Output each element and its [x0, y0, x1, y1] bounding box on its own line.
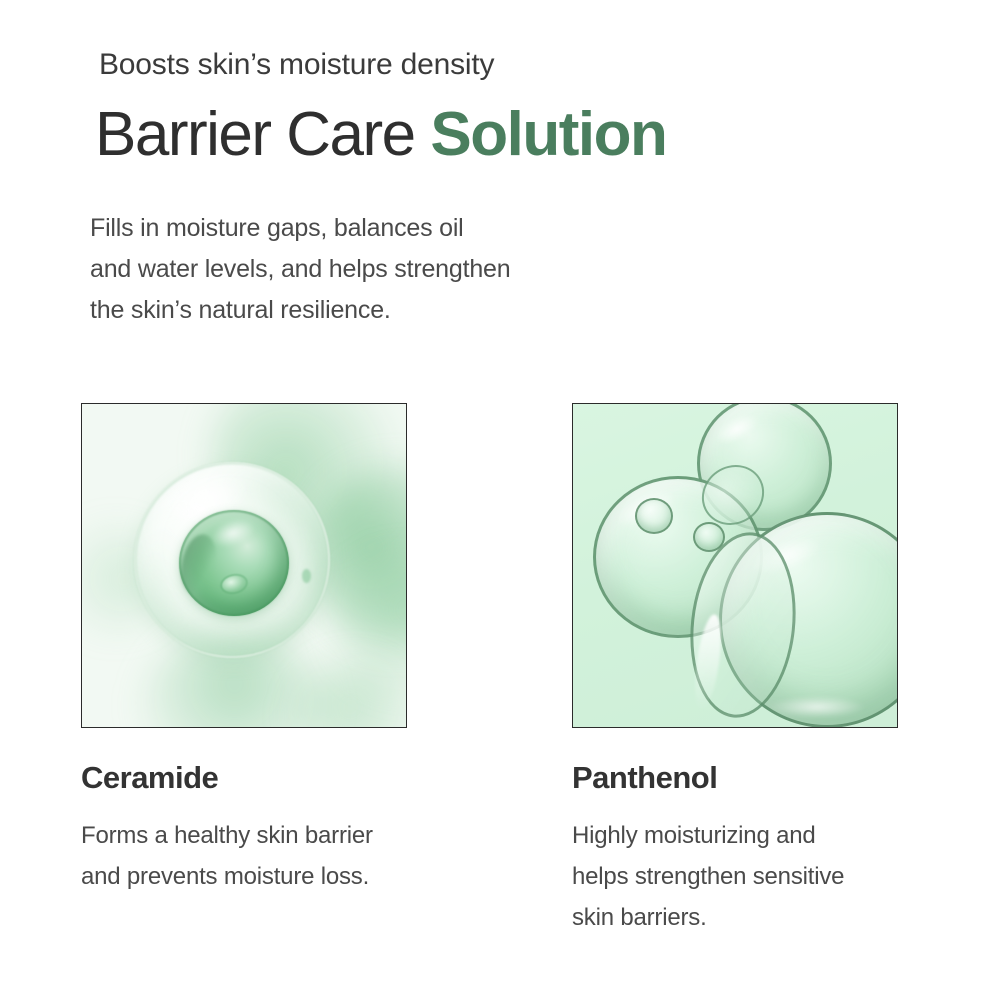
ingredient-title: Panthenol [572, 762, 898, 793]
bubble-bottom-highlight-icon [769, 696, 865, 718]
intro-line: Fills in moisture gaps, balances oil [90, 208, 510, 249]
ingredient-description-line: Forms a healthy skin barrier [81, 815, 407, 856]
page-title: Barrier Care Solution [95, 104, 666, 166]
panthenol-image [572, 403, 898, 728]
intro-line: and water levels, and helps strengthen [90, 249, 510, 290]
intro-paragraph: Fills in moisture gaps, balances oil and… [90, 208, 510, 331]
small-bubble-icon [635, 498, 673, 534]
eyebrow-text: Boosts skin’s moisture density [99, 48, 494, 82]
panthenol-bubble-illustration [573, 404, 897, 727]
ingredient-title: Ceramide [81, 762, 407, 793]
ingredient-description-line: skin barriers. [572, 897, 898, 938]
ceramide-image [81, 403, 407, 728]
ingredient-description-line: Highly moisturizing and [572, 815, 898, 856]
intro-line: the skin’s natural resilience. [90, 290, 510, 331]
product-feature-page: Boosts skin’s moisture density Barrier C… [0, 0, 1000, 1000]
ingredient-description: Forms a healthy skin barrier and prevent… [81, 815, 407, 897]
ingredient-description-line: and prevents moisture loss. [81, 856, 407, 897]
ingredient-description: Highly moisturizing and helps strengthen… [572, 815, 898, 938]
ceramide-bubble-illustration [82, 404, 406, 727]
ingredient-description-line: helps strengthen sensitive [572, 856, 898, 897]
speck-icon [302, 569, 311, 583]
page-title-accent: Solution [430, 100, 666, 169]
ingredient-card-ceramide: Ceramide Forms a healthy skin barrier an… [81, 403, 407, 897]
ingredient-card-panthenol: Panthenol Highly moisturizing and helps … [572, 403, 898, 938]
page-title-main: Barrier Care [95, 100, 430, 169]
